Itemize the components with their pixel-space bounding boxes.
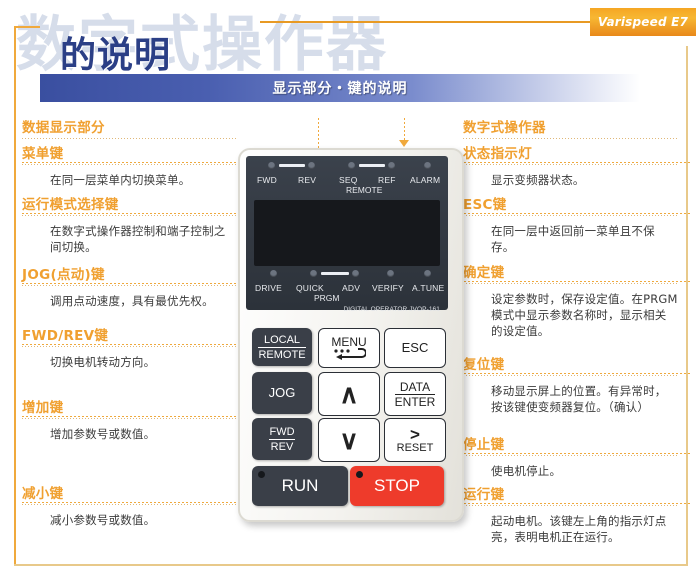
- dotted-rule: [22, 346, 237, 347]
- keypad: LOCAL REMOTE MENU ESC JOG: [252, 328, 450, 506]
- callout-jog-key: JOG(点动)键 调用点动速度，具有最优先权。: [22, 267, 237, 309]
- callout-desc: 调用点动速度，具有最优先权。: [50, 293, 237, 309]
- dotted-rule: [463, 138, 678, 139]
- led-label-drive: DRIVE: [255, 283, 282, 293]
- callout-desc: 切换电机转动方向。: [50, 354, 237, 370]
- dotted-rule: [463, 505, 678, 506]
- display-panel: FWD REV SEQ REF ALARM REMOTE DRIVE QUICK…: [246, 156, 448, 310]
- callout-fwd-rev-key: FWD/REV键 切换电机转动方向。: [22, 328, 237, 370]
- callout-heading: 停止键: [463, 437, 678, 453]
- fwd-rev-key-label-2: REV: [269, 439, 294, 453]
- callout-increase-key: 增加键 增加参数号或数值。: [22, 400, 237, 442]
- callout-desc: 减小参数号或数值。: [50, 512, 237, 528]
- local-remote-key-label-1: LOCAL: [258, 334, 305, 346]
- reset-key-label: RESET: [397, 442, 434, 454]
- badge-rule: [260, 21, 590, 23]
- leader-arrow: [399, 140, 409, 147]
- callout-enter-key: 确定键 设定参数时，保存设定值。在PRGM模式中显示参数名称时，显示相关的设定值…: [463, 265, 678, 339]
- callout-heading: 状态指示灯: [463, 146, 678, 162]
- callout-desc: 起动电机。该键左上角的指示灯点亮，表明电机正在运行。: [491, 513, 678, 545]
- callout-run-mode-select-key: 运行模式选择键 在数字式操作器控制和端子控制之间切换。: [22, 197, 237, 255]
- callout-reset-key: 复位键 移动显示屏上的位置。有异常时，按该键使变频器复位。（确认）: [463, 357, 678, 415]
- led-alarm-indicator: [424, 162, 431, 169]
- product-badge: Varispeed E7: [590, 8, 696, 36]
- frame-border-right: [686, 46, 688, 566]
- led-drive-indicator: [270, 270, 277, 277]
- local-remote-key-label-2: REMOTE: [258, 347, 305, 361]
- callout-desc: 增加参数号或数值。: [50, 426, 237, 442]
- leader-line: [460, 503, 690, 504]
- stop-indicator-led: [356, 471, 363, 478]
- menu-arrow-icon: [332, 348, 366, 360]
- callout-heading: 增加键: [22, 400, 237, 416]
- jog-key-label: JOG: [269, 387, 296, 399]
- led-label-rev: REV: [298, 175, 316, 185]
- led-bar-top-right: [359, 164, 385, 167]
- leader-line: [22, 344, 238, 345]
- dotted-rule: [463, 375, 678, 376]
- led-sublabel-prgm: PRGM: [314, 293, 340, 303]
- dotted-rule: [463, 215, 678, 216]
- reset-arrow-icon: >: [410, 427, 420, 442]
- led-label-adv: ADV: [342, 283, 360, 293]
- frame-border-bottom: [14, 564, 688, 566]
- callout-heading: 减小键: [22, 486, 237, 502]
- callout-desc: 使电机停止。: [491, 463, 678, 479]
- data-enter-key[interactable]: DATA ENTER: [384, 372, 446, 416]
- jog-key[interactable]: JOG: [252, 372, 312, 414]
- fwd-rev-key-label-1: FWD: [269, 426, 294, 438]
- fwd-rev-key[interactable]: FWD REV: [252, 418, 312, 460]
- dotted-rule: [22, 504, 237, 505]
- callout-heading: 数据显示部分: [22, 120, 237, 136]
- callout-data-display-section: 数据显示部分: [22, 120, 237, 139]
- device-model-label: DIGITAL OPERATOR JVOP-161: [343, 306, 440, 313]
- stop-key-label: STOP: [374, 480, 420, 492]
- callout-esc-key: ESC键 在同一层中返回前一菜单且不保存。: [463, 197, 678, 255]
- local-remote-key[interactable]: LOCAL REMOTE: [252, 328, 312, 366]
- reset-key[interactable]: > RESET: [384, 418, 446, 462]
- callout-desc: 设定参数时，保存设定值。在PRGM模式中显示参数名称时，显示相关的设定值。: [491, 291, 678, 339]
- lcd-screen: [254, 200, 440, 266]
- data-enter-key-label-2: ENTER: [395, 394, 436, 408]
- callout-heading: 运行模式选择键: [22, 197, 237, 213]
- callout-heading: FWD/REV键: [22, 328, 237, 344]
- run-key-label: RUN: [282, 480, 319, 492]
- esc-key[interactable]: ESC: [384, 328, 446, 368]
- led-label-alarm: ALARM: [410, 175, 440, 185]
- page-title: 的说明: [60, 26, 171, 78]
- page-root: 数字式操作器 Varispeed E7 的说明 显示部分・键的说明 数据显示部分…: [0, 0, 700, 580]
- leader-line: [22, 162, 238, 163]
- dotted-rule: [22, 164, 237, 165]
- led-label-fwd: FWD: [257, 175, 277, 185]
- callout-desc: 显示变频器状态。: [491, 172, 678, 188]
- led-label-ref: REF: [378, 175, 396, 185]
- callout-status-indicator: 状态指示灯 显示变频器状态。: [463, 146, 678, 188]
- callout-desc: 在同一层菜单内切换菜单。: [50, 172, 237, 188]
- leader-line: [460, 373, 690, 374]
- callout-heading: 菜单键: [22, 146, 237, 162]
- leader-line: [22, 213, 238, 214]
- callout-heading: 复位键: [463, 357, 678, 373]
- callout-run-key: 运行键 起动电机。该键左上角的指示灯点亮，表明电机正在运行。: [463, 487, 678, 545]
- callout-heading: JOG(点动)键: [22, 267, 237, 283]
- stop-key[interactable]: STOP: [350, 466, 444, 506]
- leader-line: [460, 281, 690, 282]
- dotted-rule: [463, 283, 678, 284]
- led-adv-indicator: [352, 270, 359, 277]
- leader-line: [22, 416, 238, 417]
- callout-desc: 移动显示屏上的位置。有异常时，按该键使变频器复位。（确认）: [491, 383, 678, 415]
- run-key[interactable]: RUN: [252, 466, 348, 506]
- led-ref-indicator: [388, 162, 395, 169]
- callout-heading: 确定键: [463, 265, 678, 281]
- esc-key-label: ESC: [402, 342, 429, 354]
- dotted-rule: [22, 215, 237, 216]
- frame-border-top: [14, 26, 40, 28]
- leader-line: [318, 118, 319, 148]
- callout-heading: 数字式操作器: [463, 120, 678, 136]
- led-atune-indicator: [424, 270, 431, 277]
- leader-line: [22, 283, 238, 284]
- digital-operator-device: FWD REV SEQ REF ALARM REMOTE DRIVE QUICK…: [238, 148, 464, 522]
- leader-line: [460, 453, 690, 454]
- led-verify-indicator: [387, 270, 394, 277]
- down-arrow-key[interactable]: ∨: [318, 418, 380, 462]
- callout-stop-key: 停止键 使电机停止。: [463, 437, 678, 479]
- menu-key[interactable]: MENU: [318, 328, 380, 368]
- led-label-seq: SEQ: [339, 175, 358, 185]
- dotted-rule: [22, 285, 237, 286]
- dotted-rule: [22, 138, 237, 139]
- leader-line: [460, 213, 690, 214]
- led-label-atune: A.TUNE: [412, 283, 444, 293]
- callout-decrease-key: 减小键 减小参数号或数值。: [22, 486, 237, 528]
- down-arrow-icon: ∨: [339, 427, 358, 453]
- led-seq-indicator: [348, 162, 355, 169]
- led-label-verify: VERIFY: [372, 283, 404, 293]
- leader-line: [404, 118, 405, 142]
- callout-menu-key: 菜单键 在同一层菜单内切换菜单。: [22, 146, 237, 188]
- led-sublabel-remote: REMOTE: [346, 185, 382, 195]
- leader-line: [22, 502, 238, 503]
- leader-line: [460, 162, 690, 163]
- up-arrow-key[interactable]: ∧: [318, 372, 380, 416]
- led-fwd-indicator: [268, 162, 275, 169]
- dotted-rule: [463, 164, 678, 165]
- callout-desc: 在数字式操作器控制和端子控制之间切换。: [50, 223, 237, 255]
- callout-heading: ESC键: [463, 197, 678, 213]
- led-label-quick: QUICK: [296, 283, 324, 293]
- run-indicator-led: [258, 471, 265, 478]
- dotted-rule: [22, 418, 237, 419]
- dotted-rule: [463, 455, 678, 456]
- callout-desc: 在同一层中返回前一菜单且不保存。: [491, 223, 678, 255]
- data-enter-key-label-1: DATA: [395, 381, 436, 393]
- frame-border-left: [14, 26, 16, 566]
- callout-digital-operator: 数字式操作器: [463, 120, 678, 139]
- led-rev-indicator: [308, 162, 315, 169]
- section-banner-label: 显示部分・键的说明: [40, 74, 640, 102]
- callout-heading: 运行键: [463, 487, 678, 503]
- led-bar-bottom: [321, 272, 349, 275]
- menu-key-label: MENU: [331, 336, 366, 348]
- up-arrow-icon: ∧: [339, 381, 358, 407]
- led-bar-top-left: [279, 164, 305, 167]
- led-quick-indicator: [310, 270, 317, 277]
